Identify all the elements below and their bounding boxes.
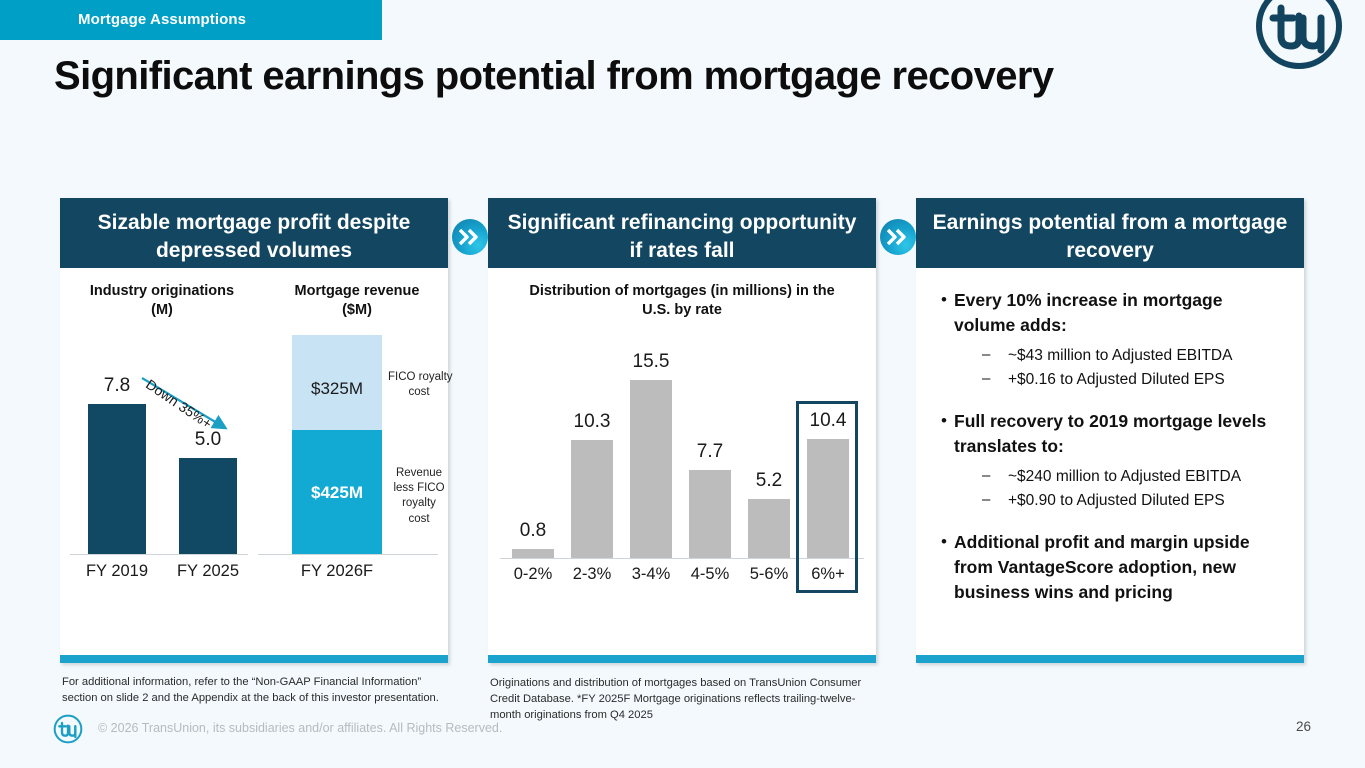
- footnote-panel-a: For additional information, refer to the…: [62, 675, 458, 707]
- panel-header-title: Earnings potential from a mortgage recov…: [916, 198, 1304, 268]
- panel-body: • Every 10% increase in mortgage volume …: [916, 268, 1304, 655]
- page-title: Significant earnings potential from mort…: [54, 54, 1054, 99]
- bar-value-4-5pct: 7.7: [679, 441, 741, 463]
- connector-badge-2: [880, 219, 916, 255]
- panel-header-title: Sizable mortgage profit despite depresse…: [60, 198, 448, 268]
- section-kicker-tab: Mortgage Assumptions: [0, 0, 382, 40]
- bar-0-2pct: [512, 549, 554, 558]
- dash-icon: –: [982, 344, 1008, 367]
- sub-bullet-text: +$0.90 to Adjusted Diluted EPS: [1008, 489, 1225, 512]
- stack-label-fico-royalty: $325M: [292, 379, 382, 399]
- bullet-text: Additional profit and margin upside from…: [954, 530, 1282, 605]
- stack-label-revenue-less-fico: $425M: [292, 483, 382, 503]
- double-chevron-right-icon: [459, 227, 481, 247]
- transunion-tu-logo-icon: [1251, 0, 1347, 74]
- bullet-text: Every 10% increase in mortgage volume ad…: [954, 288, 1282, 338]
- bullet-item: • Every 10% increase in mortgage volume …: [934, 288, 1282, 338]
- bar-4-5pct: [689, 470, 731, 558]
- sub-bullet-text: ~$240 million to Adjusted EBITDA: [1008, 465, 1241, 488]
- bullet-item: • Full recovery to 2019 mortgage levels …: [934, 409, 1282, 459]
- bar-value-6pct-plus: 10.4: [797, 410, 859, 432]
- sub-bullet-text: ~$43 million to Adjusted EBITDA: [1008, 344, 1232, 367]
- bullet-dot-icon: •: [934, 288, 954, 338]
- sub-bullet-item: – ~$43 million to Adjusted EBITDA: [982, 344, 1282, 367]
- sub-bullet-item: – ~$240 million to Adjusted EBITDA: [982, 465, 1282, 488]
- down-trend-annotation: Down 35%+: [138, 368, 248, 448]
- axis-line-right: [258, 554, 438, 555]
- bullet-dot-icon: •: [934, 409, 954, 459]
- panel-body: Industry originations (M) Mortgage reven…: [60, 268, 448, 655]
- dash-icon: –: [982, 368, 1008, 391]
- bar-2-3pct: [571, 440, 613, 558]
- panel-accent-bar: [60, 655, 448, 663]
- chart-title-distribution-of-mortgages: Distribution of mortgages (in millions) …: [526, 282, 838, 320]
- spacer: [934, 513, 1282, 530]
- bar-value-5-6pct: 5.2: [738, 470, 800, 492]
- bar-3-4pct: [630, 380, 672, 558]
- panel-header-title: Significant refinancing opportunity if r…: [488, 198, 876, 268]
- sub-bullet-item: – +$0.90 to Adjusted Diluted EPS: [982, 489, 1282, 512]
- sub-bullet-text: +$0.16 to Adjusted Diluted EPS: [1008, 368, 1225, 391]
- axis-line-left: [70, 554, 248, 555]
- panel-earnings-potential-mortgage-recovery: Earnings potential from a mortgage recov…: [916, 198, 1304, 663]
- side-note-fico-royalty-cost: FICO royaltycost: [388, 370, 450, 400]
- bullet-item: • Additional profit and margin upside fr…: [934, 530, 1282, 605]
- sub-bullet-item: – +$0.16 to Adjusted Diluted EPS: [982, 368, 1282, 391]
- bar-5-6pct: [748, 499, 790, 558]
- bar-fy2025: [179, 458, 237, 554]
- copyright-text: © 2026 TransUnion, its subsidiaries and/…: [98, 721, 502, 735]
- category-label-fy2026f: FY 2026F: [287, 562, 387, 581]
- bar-value-0-2pct: 0.8: [502, 520, 564, 542]
- footer-transunion-tu-logo-icon: [52, 713, 84, 745]
- panel-accent-bar: [488, 655, 876, 663]
- connector-badge-1: [452, 219, 488, 255]
- bar-value-3-4pct: 15.5: [620, 351, 682, 373]
- category-label-fy2019: FY 2019: [68, 562, 166, 581]
- slide: Mortgage Assumptions Significant earning…: [0, 0, 1365, 768]
- bar-6pct-plus: [807, 439, 849, 558]
- page-number: 26: [1296, 719, 1311, 734]
- panel-sizable-mortgage-profit: Sizable mortgage profit despite depresse…: [60, 198, 448, 663]
- bar-value-2-3pct: 10.3: [561, 411, 623, 433]
- side-note-revenue-less-fico: Revenueless FICOroyaltycost: [388, 466, 450, 527]
- bullet-dot-icon: •: [934, 530, 954, 605]
- category-label-fy2025: FY 2025: [159, 562, 257, 581]
- panel-body: Distribution of mortgages (in millions) …: [488, 268, 876, 655]
- panel-significant-refinancing-opportunity: Significant refinancing opportunity if r…: [488, 198, 876, 663]
- bullet-text: Full recovery to 2019 mortgage levels tr…: [954, 409, 1282, 459]
- chart-title-industry-originations: Industry originations (M): [82, 282, 242, 320]
- dash-icon: –: [982, 465, 1008, 488]
- section-kicker-label: Mortgage Assumptions: [78, 11, 246, 28]
- spacer: [934, 392, 1282, 409]
- dash-icon: –: [982, 489, 1008, 512]
- category-label-6pct-plus: 6%+: [792, 565, 864, 584]
- double-chevron-right-icon: [887, 227, 909, 247]
- footnote-panel-b: Originations and distribution of mortgag…: [490, 676, 880, 724]
- chart-title-mortgage-revenue: Mortgage revenue ($M): [282, 282, 432, 320]
- panel-accent-bar: [916, 655, 1304, 663]
